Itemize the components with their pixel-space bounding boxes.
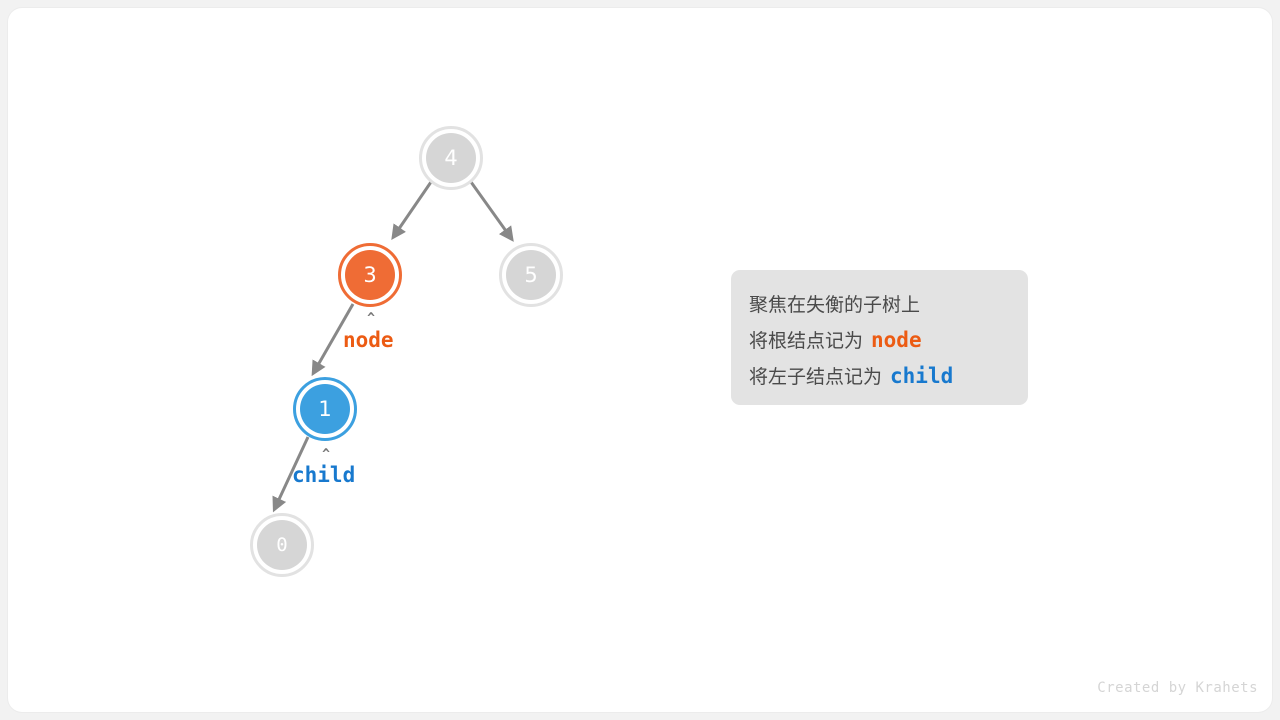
node-value-3: 3 [363,263,376,287]
tree-node-0[interactable]: 0 [252,515,313,576]
callout-keyword-child: child [882,364,953,388]
pointer-caret-node-icon: ^ [367,311,375,326]
callout-line-1-text: 聚焦在失衡的子树上 [749,294,920,316]
tree-node-5[interactable]: 5 [501,245,562,306]
tree-node-4[interactable]: 4 [421,128,482,189]
callout-line-3: 将左子结点记为child [749,359,1028,395]
diagram-canvas: 4 3 5 1 0 ^ node ^ child [0,0,1280,720]
callout-line-1: 聚焦在失衡的子树上 [749,288,1028,323]
pointer-caret-child-icon: ^ [322,447,330,462]
callout-keyword-node: node [863,328,922,352]
tree-node-1[interactable]: 1 [295,379,356,440]
pointer-label-child: child [292,463,355,487]
callout-line-2: 将根结点记为node [749,323,1028,359]
callout-line-2-prefix: 将根结点记为 [749,330,863,352]
callout-box: 聚焦在失衡的子树上 将根结点记为node 将左子结点记为child [731,270,1028,405]
credit-text: Created by Krahets [1097,680,1258,696]
node-value-1: 1 [318,397,331,421]
node-value-4: 4 [444,146,457,170]
node-value-0: 0 [276,534,287,556]
pointer-node: ^ node [343,311,394,352]
pointer-label-node: node [343,328,394,352]
callout-line-3-prefix: 将左子结点记为 [749,366,882,388]
tree-node-3[interactable]: 3 [340,245,401,306]
tree-diagram: 4 3 5 1 0 ^ node ^ child [0,0,1280,720]
node-value-5: 5 [524,263,537,287]
edge-4-5 [471,182,511,238]
edge-4-3 [394,182,431,236]
